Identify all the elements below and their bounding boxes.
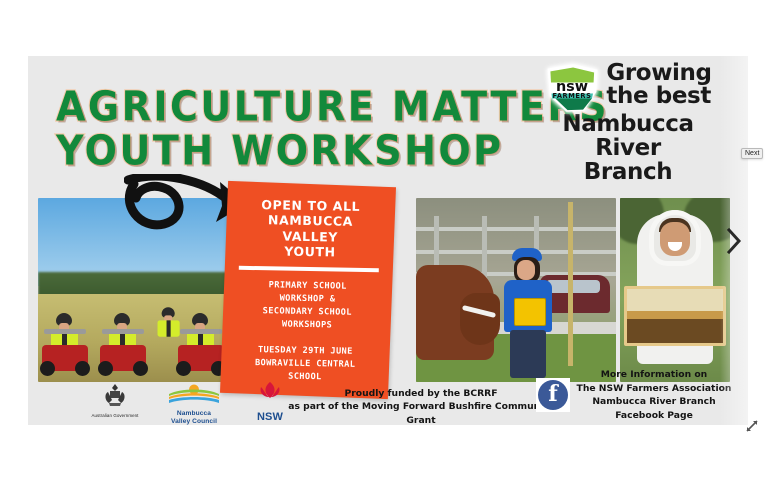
brand-branch-line-2: Branch [526, 161, 730, 185]
flyer-body: PRIMARY SCHOOL WORKSHOP & SECONDARY SCHO… [233, 279, 382, 334]
photo-quad-bikes [38, 198, 238, 382]
flyer-panel: OPEN TO ALL NAMBUCCA VALLEY YOUTH PRIMAR… [220, 181, 396, 399]
brand-branch-line-1: Nambucca River [526, 113, 730, 161]
photo-beekeeping [620, 198, 730, 382]
flyer-when-where: TUESDAY 29TH JUNE BOWRAVILLE CENTRAL SCH… [231, 344, 380, 386]
resize-handle[interactable] [746, 419, 758, 431]
council-sun-wave-icon [168, 382, 220, 404]
headline-line-1: AGRICULTURE MATTERS [56, 88, 556, 126]
nsw-farmers-brand-block: nsw FARMERS Growing the best Nambucca Ri… [526, 62, 730, 185]
nsw-government-logo-caption: NSW [242, 411, 298, 425]
nsw-waratah-icon [253, 381, 287, 405]
resize-handle-icon [746, 420, 758, 432]
brand-top-row: nsw FARMERS Growing the best [526, 62, 730, 114]
sponsor-logo-row: Australian Government Nambucca Valley Co… [56, 381, 291, 423]
nambucca-valley-council-logo: Nambucca Valley Council [152, 382, 236, 425]
nsw-farmers-logo: nsw FARMERS [544, 62, 600, 114]
commonwealth-coat-of-arms-icon [102, 383, 128, 407]
headline-line-2: YOUTH WORKSHOP [56, 132, 556, 170]
brand-tagline-line-1: Growing [606, 62, 711, 85]
facebook-icon-glyph: f [538, 380, 568, 410]
chevron-right-icon [726, 228, 742, 254]
photo-cattle-handling [416, 198, 616, 382]
facebook-icon[interactable]: f [536, 378, 570, 412]
next-tooltip: Next [741, 148, 763, 159]
australian-government-logo-caption: Australian Government [76, 413, 154, 419]
carousel-panel[interactable]: AGRICULTURE MATTERS YOUTH WORKSHOP nsw F… [28, 56, 748, 425]
brand-tagline-line-2: the best [606, 85, 711, 108]
flyer-divider [239, 266, 379, 272]
brand-branch: Nambucca River Branch [526, 113, 730, 185]
brand-tagline: Growing the best [606, 62, 711, 109]
australian-government-logo: Australian Government [76, 383, 154, 419]
nsw-government-logo: NSW [242, 381, 298, 425]
page-title: AGRICULTURE MATTERS YOUTH WORKSHOP [56, 88, 556, 167]
flyer-headline: OPEN TO ALL NAMBUCCA VALLEY YOUTH [236, 197, 385, 261]
poster-slide[interactable]: AGRICULTURE MATTERS YOUTH WORKSHOP nsw F… [28, 56, 748, 425]
svg-text:FARMERS: FARMERS [553, 92, 592, 100]
council-logo-caption: Nambucca Valley Council [152, 410, 236, 425]
funding-credit: Proudly funded by the BCRRF as part of t… [284, 387, 558, 425]
carousel-next-button[interactable] [720, 56, 748, 425]
facebook-info-block: f More Information on The NSW Farmers As… [536, 368, 732, 422]
facebook-info-text: More Information on The NSW Farmers Asso… [576, 368, 732, 422]
